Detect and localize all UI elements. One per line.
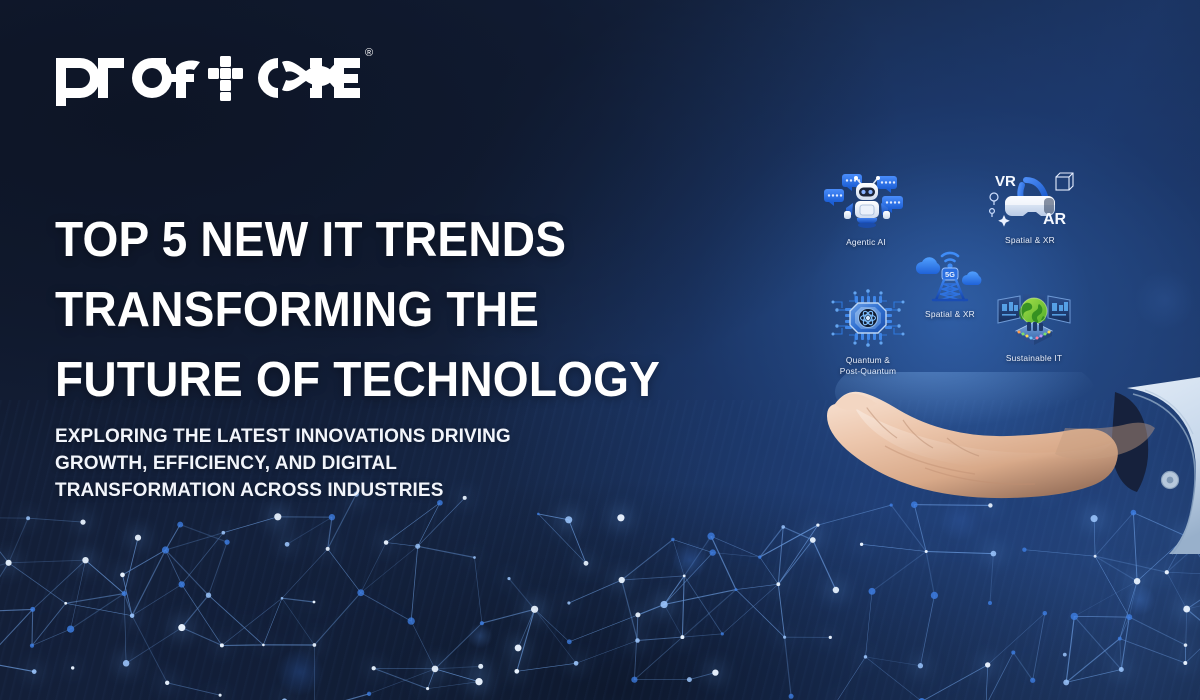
subtitle-line-2: GROWTH, EFFICIENCY, AND DIGITAL — [55, 450, 635, 477]
5g-badge-text: 5G — [945, 270, 955, 279]
open-palm-image — [815, 372, 1200, 572]
robot-chat-icon — [818, 170, 914, 232]
trend-item-sustainable-it[interactable]: Sustainable IT — [982, 286, 1086, 364]
headline-line-2: TRANSFORMING THE — [55, 275, 638, 345]
logo-wordmark-glyphs — [52, 44, 362, 106]
page-subtitle: EXPLORING THE LATEST INNOVATIONS DRIVING… — [55, 423, 635, 504]
headline-line-3: FUTURE OF TECHNOLOGY — [55, 345, 638, 415]
trend-icon-cluster: Agentic AI VR — [790, 160, 1110, 390]
page-title: TOP 5 NEW IT TRENDS TRANSFORMING THE FUT… — [55, 205, 638, 415]
vr-badge-text: VR — [995, 173, 1016, 190]
green-datacenter-icon — [986, 286, 1082, 348]
registered-trademark-icon: ® — [365, 48, 373, 59]
headline-line-1: TOP 5 NEW IT TRENDS — [55, 205, 638, 275]
trend-item-agentic-ai[interactable]: Agentic AI — [814, 170, 918, 248]
trend-label: Sustainable IT — [982, 353, 1086, 364]
marketing-banner: ® TOP 5 NEW IT TRENDS TRANSFORMING THE F… — [0, 0, 1200, 700]
vr-headset-icon: VR — [982, 168, 1078, 230]
cube-icon — [1056, 173, 1073, 190]
trend-item-spatial-xr[interactable]: VR — [978, 168, 1082, 246]
quantum-chip-icon — [820, 288, 916, 350]
ar-badge-text: AR — [1043, 211, 1067, 228]
trend-item-quantum[interactable]: Quantum & Post-Quantum — [816, 288, 920, 377]
trend-label-line-1: Quantum & — [846, 355, 890, 365]
subtitle-line-3: TRANSFORMATION ACROSS INDUSTRIES — [55, 477, 635, 504]
subtitle-line-1: EXPLORING THE LATEST INNOVATIONS DRIVING — [55, 423, 635, 450]
brand-logo[interactable]: ® — [52, 44, 373, 106]
